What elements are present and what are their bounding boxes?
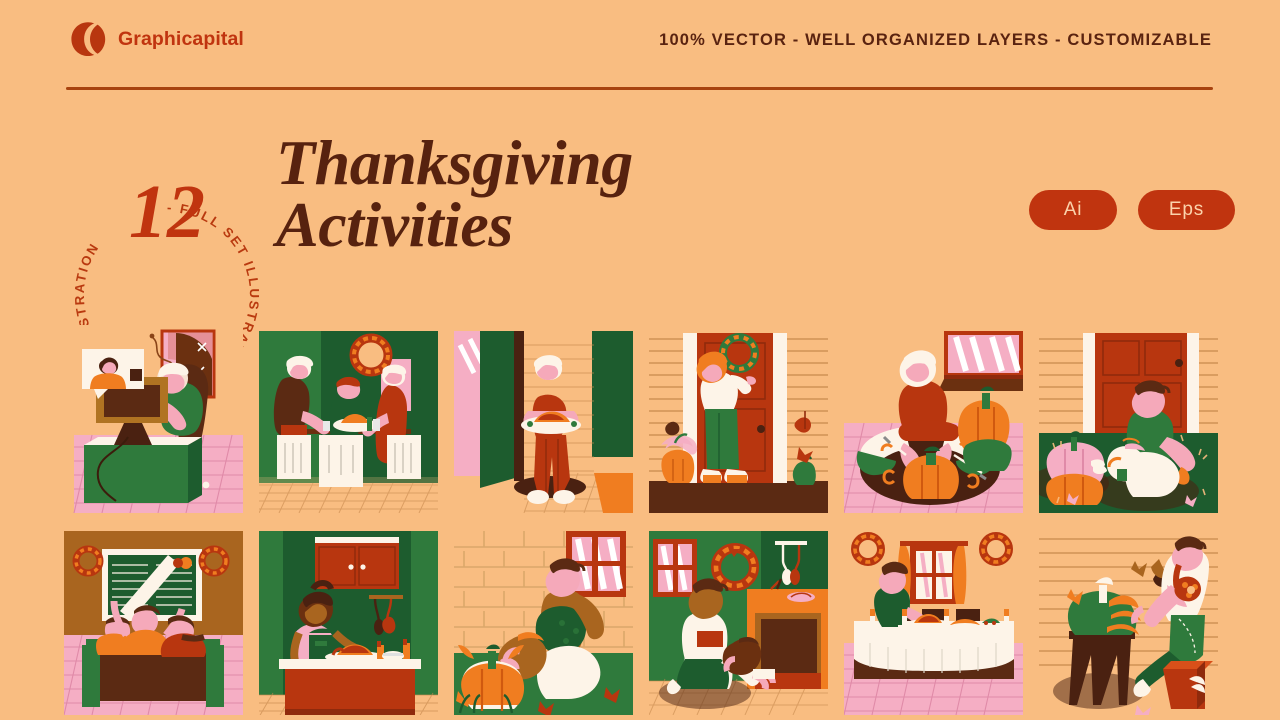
header-divider — [66, 87, 1213, 90]
illustration-tile-painting-pumpkin-easel[interactable] — [1039, 527, 1218, 715]
header: Graphicapital 100% VECTOR - WELL ORGANIZ… — [0, 0, 1280, 88]
illustration-tile-pumpkin-painting-porch[interactable] — [1039, 325, 1218, 513]
format-badges: Ai Eps — [1029, 190, 1235, 230]
full-set-badge: - FULL SET ILLUSTRATION - FULL SET ILLUS… — [60, 110, 275, 295]
illustration-tile-video-call-thanksgiving[interactable] — [64, 325, 243, 513]
page-title: Thanksgiving Activities — [276, 132, 633, 256]
illustration-grid — [64, 325, 1220, 715]
illustration-tile-setting-dinner-table[interactable] — [844, 527, 1023, 715]
illustration-tile-pumpkin-patch-picking[interactable] — [454, 527, 633, 715]
illustration-tile-lighting-fireplace[interactable] — [649, 527, 828, 715]
illustration-tile-carrying-turkey-platter[interactable] — [454, 325, 633, 513]
illustration-tile-carving-pumpkin-floor[interactable] — [844, 325, 1023, 513]
title-block: - FULL SET ILLUSTRATION - FULL SET ILLUS… — [0, 100, 1280, 305]
illustration-tile-cooking-turkey-kitchen[interactable] — [259, 527, 438, 715]
header-tagline: 100% VECTOR - WELL ORGANIZED LAYERS - CU… — [659, 31, 1212, 50]
illustration-tile-watching-football-sofa[interactable] — [64, 527, 243, 715]
brand-name: Graphicapital — [118, 28, 244, 51]
illustration-tile-hanging-door-wreath[interactable] — [649, 325, 828, 513]
graphicapital-leaf-mark-icon — [66, 20, 106, 58]
poster-page: Graphicapital 100% VECTOR - WELL ORGANIZ… — [0, 0, 1280, 720]
format-badge-eps[interactable]: Eps — [1138, 190, 1235, 230]
badge-count: 12 — [129, 170, 205, 254]
illustration-tile-family-dinner-table[interactable] — [259, 325, 438, 513]
brand[interactable]: Graphicapital — [66, 20, 244, 58]
format-badge-ai[interactable]: Ai — [1029, 190, 1117, 230]
